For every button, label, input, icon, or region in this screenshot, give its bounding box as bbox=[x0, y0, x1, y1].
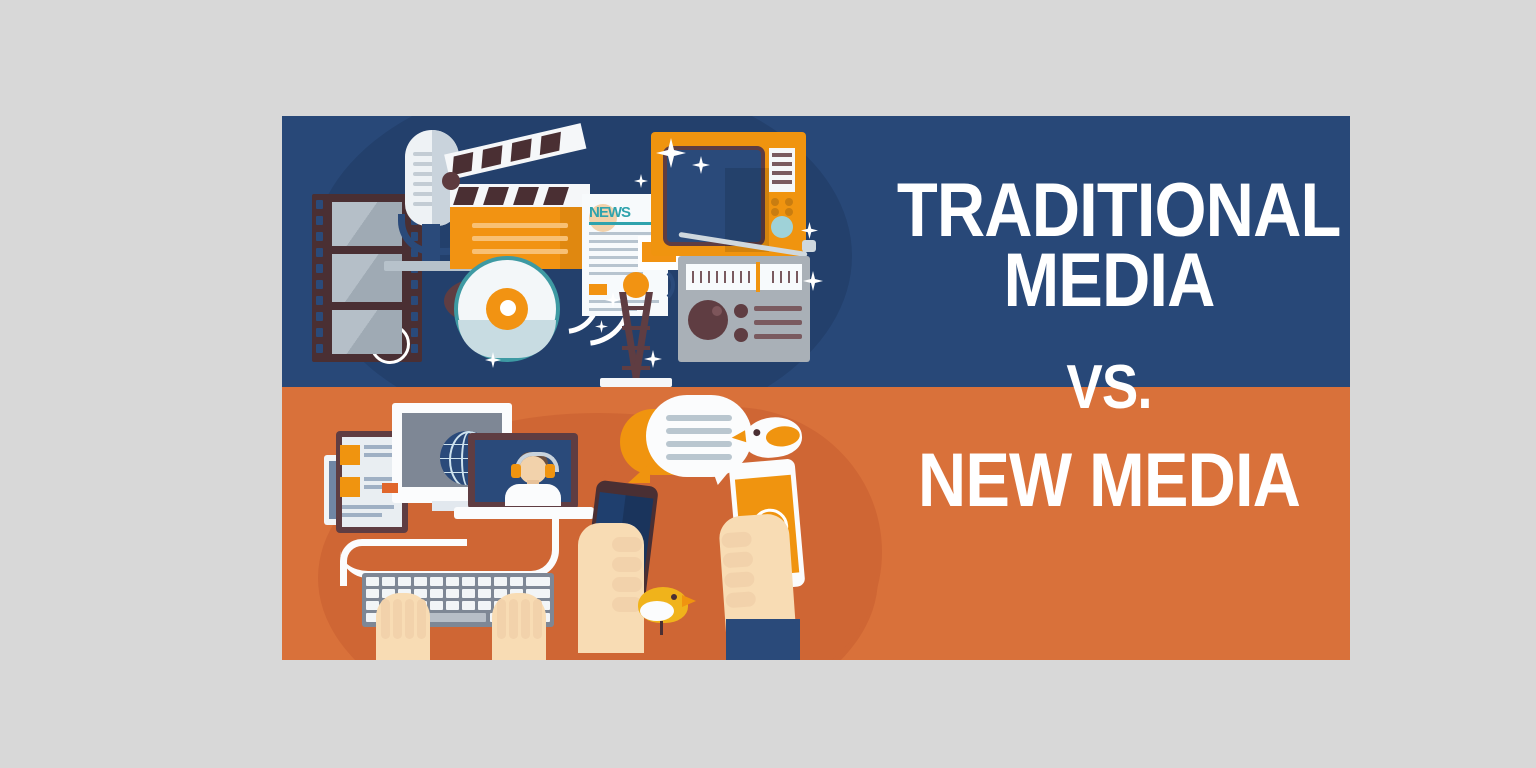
antenna-tip bbox=[802, 240, 816, 252]
bird-icon bbox=[638, 583, 696, 625]
newspaper-headline: NEWS bbox=[589, 204, 617, 232]
traditional-media-section: NEWS bbox=[282, 116, 1350, 387]
monitor-accent-tab bbox=[382, 483, 398, 493]
traditional-media-vs-new-media-banner: NEWS bbox=[282, 116, 1350, 660]
page-root: NEWS bbox=[0, 0, 1536, 768]
typing-hands-icon bbox=[376, 593, 430, 660]
hand-icon bbox=[578, 523, 644, 653]
radio-receiver-icon bbox=[678, 256, 810, 362]
clapperboard-bar bbox=[450, 184, 590, 208]
hand-icon bbox=[718, 513, 796, 636]
microphone-stem bbox=[422, 224, 440, 266]
clapperboard-pivot bbox=[442, 172, 460, 190]
tower-base bbox=[600, 378, 672, 387]
sparkle-icon bbox=[634, 174, 648, 188]
video-call-screen bbox=[475, 440, 571, 502]
sleeve bbox=[726, 619, 800, 660]
bird-icon bbox=[742, 412, 812, 465]
traditional-media-illustration: NEWS bbox=[282, 116, 868, 387]
laptop-icon bbox=[468, 433, 578, 509]
clapperboard-top-icon bbox=[444, 123, 586, 180]
new-media-illustration bbox=[282, 387, 868, 660]
typing-hands-icon bbox=[492, 593, 546, 660]
